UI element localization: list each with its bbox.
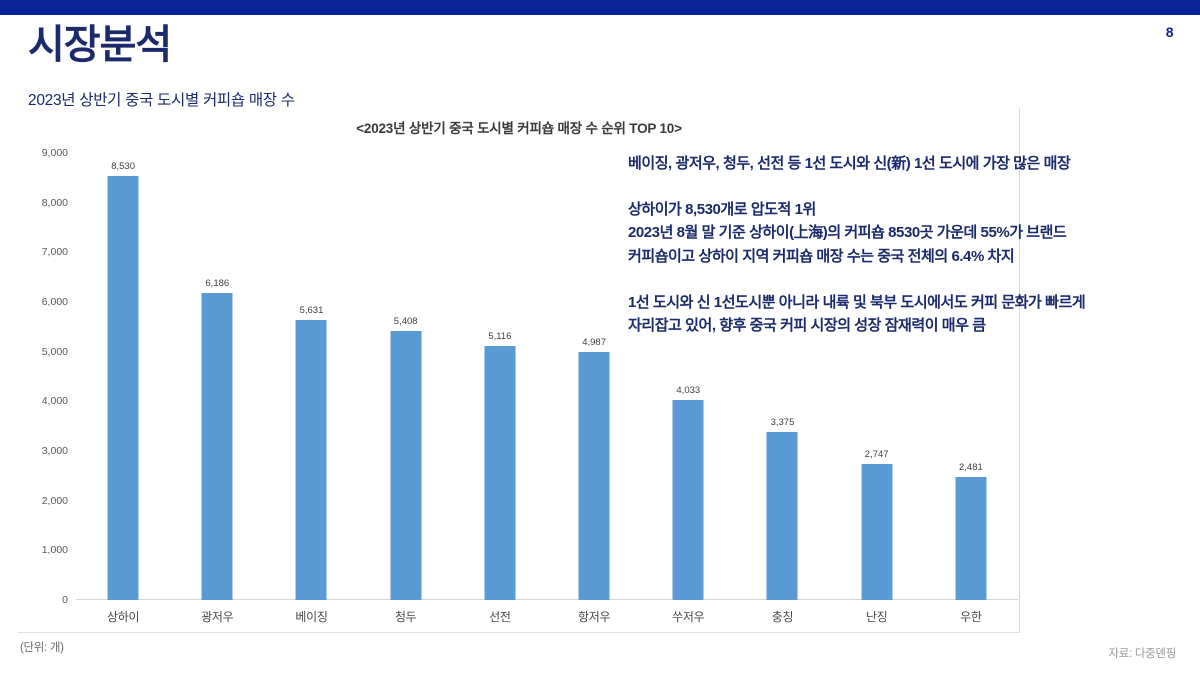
x-axis-category-label: 광저우 — [201, 608, 233, 625]
bar-value-label: 6,186 — [205, 278, 229, 289]
y-axis-tick-label: 3,000 — [42, 445, 68, 457]
bar-value-label: 2,747 — [865, 449, 889, 460]
bar[interactable] — [108, 176, 139, 600]
bar[interactable] — [955, 477, 986, 600]
y-axis-tick-label: 2,000 — [42, 495, 68, 507]
commentary-paragraph-2-line-1: 상하이가 8,530개로 압도적 1위 — [628, 198, 1188, 222]
bar-value-label: 5,631 — [300, 305, 324, 316]
x-axis-category-label: 베이징 — [295, 608, 327, 625]
y-axis-tick-label: 6,000 — [42, 296, 68, 308]
chart-title: <2023년 상반기 중국 도시별 커피숍 매장 수 순위 TOP 10> — [18, 117, 1020, 137]
page-number: 8 — [1166, 24, 1174, 40]
bar-value-label: 3,375 — [771, 417, 795, 428]
commentary-paragraph-3-line-1: 1선 도시와 신 1선도시뿐 아니라 내륙 및 북부 도시에서도 커피 문화가 … — [628, 291, 1188, 315]
x-axis-category-label: 충칭 — [772, 608, 793, 625]
y-axis-tick-label: 0 — [62, 594, 68, 606]
page-title: 시장분석 — [28, 24, 171, 66]
bar[interactable] — [767, 432, 798, 600]
commentary-paragraph-2-line-2: 2023년 8월 말 기준 상하이(上海)의 커피숍 8530곳 가운데 55%… — [628, 221, 1188, 245]
bar-group: 5,116선전 — [453, 153, 547, 600]
commentary-paragraph-3-line-2: 자리잡고 있어, 향후 중국 커피 시장의 성장 잠재력이 매우 큼 — [628, 314, 1188, 338]
y-axis-tick-label: 1,000 — [42, 544, 68, 556]
y-axis-tick-label: 9,000 — [42, 147, 68, 159]
bar-group: 5,408청두 — [359, 153, 453, 600]
x-axis-category-label: 항저우 — [578, 608, 610, 625]
bar[interactable] — [579, 352, 610, 600]
commentary-paragraph-2-line-3: 커피숍이고 상하이 지역 커피숍 매장 수는 중국 전체의 6.4% 차지 — [628, 245, 1188, 269]
y-axis-tick-label: 5,000 — [42, 346, 68, 358]
x-axis-category-label: 우한 — [960, 608, 981, 625]
bar-group: 8,530상하이 — [76, 153, 170, 600]
bar-group: 6,186광저우 — [170, 153, 264, 600]
x-axis-category-label: 선전 — [489, 608, 510, 625]
bar-value-label: 4,033 — [676, 385, 700, 396]
bar-group: 5,631베이징 — [264, 153, 358, 600]
bar-value-label: 5,116 — [488, 331, 511, 342]
source-note: 자료: 다중뎬핑 — [1109, 645, 1176, 661]
bar-value-label: 2,481 — [959, 462, 983, 473]
bar-value-label: 5,408 — [394, 316, 418, 327]
top-accent-bar — [0, 0, 1200, 15]
y-axis-tick-label: 8,000 — [42, 197, 68, 209]
y-axis-tick-label: 7,000 — [42, 246, 68, 258]
x-axis-category-label: 상하이 — [107, 608, 139, 625]
bar[interactable] — [673, 400, 704, 600]
bar[interactable] — [390, 331, 421, 600]
bar-value-label: 4,987 — [582, 337, 606, 348]
bar[interactable] — [484, 346, 515, 600]
y-axis-tick-label: 4,000 — [42, 395, 68, 407]
bar[interactable] — [296, 320, 327, 600]
page-subtitle: 2023년 상반기 중국 도시별 커피숍 매장 수 — [28, 88, 295, 110]
commentary-block: 베이징, 광저우, 청두, 선전 등 1선 도시와 신(新) 1선 도시에 가장… — [628, 152, 1188, 338]
commentary-paragraph-1: 베이징, 광저우, 청두, 선전 등 1선 도시와 신(新) 1선 도시에 가장… — [628, 152, 1188, 176]
x-axis-category-label: 난징 — [866, 608, 887, 625]
commentary-spacer-2 — [628, 269, 1188, 291]
commentary-spacer-1 — [628, 176, 1188, 198]
bar-value-label: 8,530 — [111, 161, 135, 172]
unit-note: (단위: 개) — [20, 639, 64, 655]
bar[interactable] — [861, 464, 892, 600]
x-axis-category-label: 쑤저우 — [672, 608, 704, 625]
bar[interactable] — [202, 293, 233, 600]
x-axis-category-label: 청두 — [395, 608, 416, 625]
